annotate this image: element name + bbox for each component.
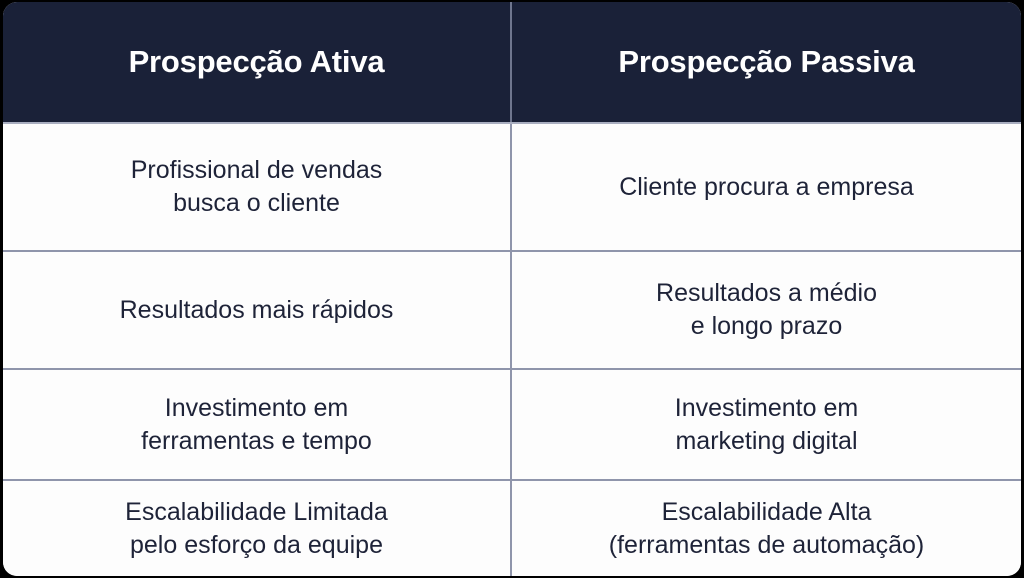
cell-active-1: Profissional de vendas busca o cliente bbox=[3, 124, 512, 250]
column-header-prospeccao-passiva: Prospecção Passiva bbox=[512, 2, 1021, 122]
cell-passive-4: Escalabilidade Alta (ferramentas de auto… bbox=[512, 481, 1021, 576]
cell-active-2: Resultados mais rápidos bbox=[3, 252, 512, 368]
table-row: Investimento em ferramentas e tempo Inve… bbox=[3, 368, 1021, 479]
table-header-row: Prospecção Ativa Prospecção Passiva bbox=[3, 2, 1021, 122]
cell-passive-3: Investimento em marketing digital bbox=[512, 370, 1021, 479]
cell-active-3: Investimento em ferramentas e tempo bbox=[3, 370, 512, 479]
comparison-table: Prospecção Ativa Prospecção Passiva Prof… bbox=[3, 2, 1021, 576]
table-row: Resultados mais rápidos Resultados a méd… bbox=[3, 250, 1021, 368]
table-body: Profissional de vendas busca o cliente C… bbox=[3, 122, 1021, 576]
table-row: Escalabilidade Limitada pelo esforço da … bbox=[3, 479, 1021, 576]
cell-passive-2: Resultados a médio e longo prazo bbox=[512, 252, 1021, 368]
cell-active-4: Escalabilidade Limitada pelo esforço da … bbox=[3, 481, 512, 576]
cell-passive-1: Cliente procura a empresa bbox=[512, 124, 1021, 250]
column-header-prospeccao-ativa: Prospecção Ativa bbox=[3, 2, 512, 122]
screen: Prospecção Ativa Prospecção Passiva Prof… bbox=[0, 0, 1024, 578]
table-row: Profissional de vendas busca o cliente C… bbox=[3, 122, 1021, 250]
